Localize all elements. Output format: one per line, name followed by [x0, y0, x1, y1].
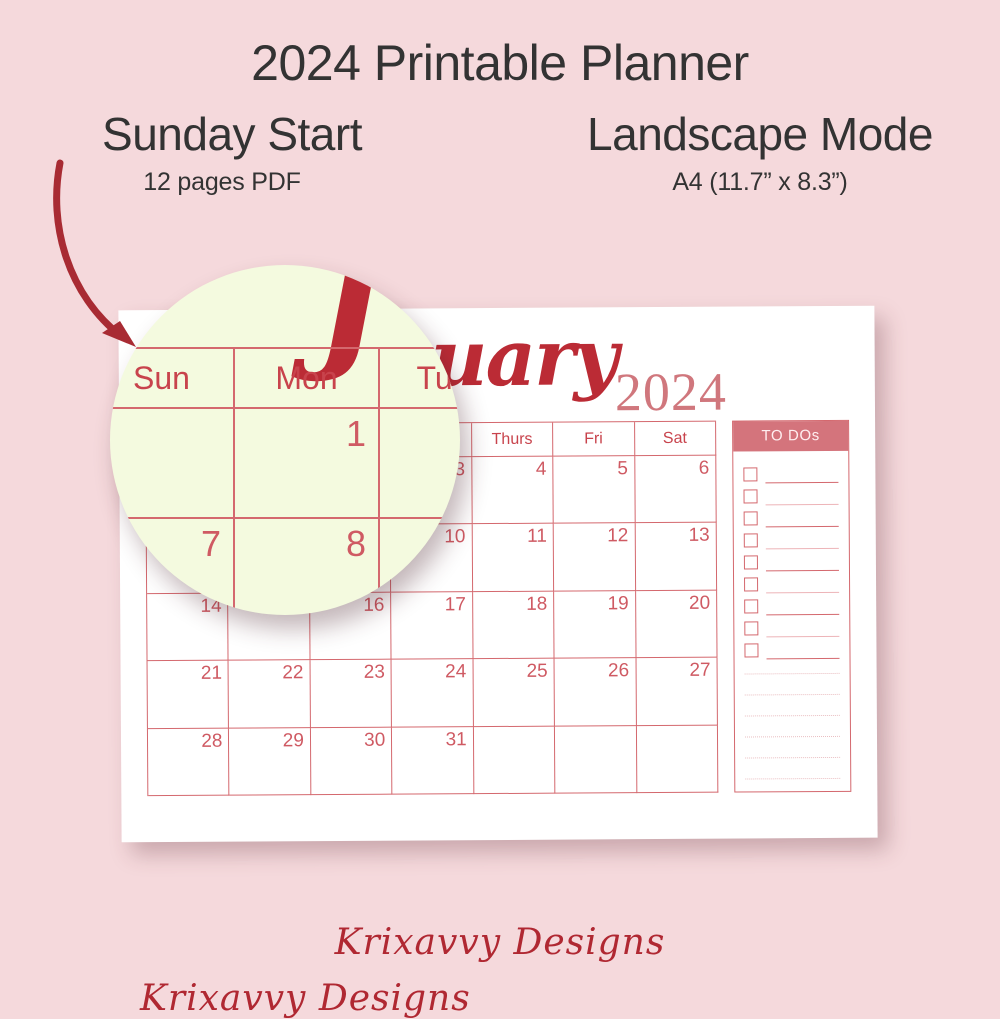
sunday-start-heading: Sunday Start	[0, 110, 482, 158]
calendar-day-number: 28	[201, 730, 222, 752]
calendar-day-cell[interactable]: 27	[636, 658, 718, 726]
todo-checkbox[interactable]	[744, 577, 758, 591]
todo-checkbox[interactable]	[744, 643, 758, 657]
calendar-week-row: 21222324252627	[148, 658, 718, 729]
calendar-weekday-header: Sat	[635, 422, 717, 456]
header-column-right: Landscape Mode A4 (11.7” x 8.3”)	[500, 110, 1000, 197]
todo-item[interactable]	[744, 593, 839, 616]
calendar-week-row: 28293031	[148, 725, 718, 796]
todo-item[interactable]	[744, 571, 839, 594]
calendar-day-cell[interactable]: 12	[554, 524, 636, 592]
todo-item[interactable]	[744, 615, 839, 638]
magnifier-day-cell	[380, 409, 460, 519]
calendar-weekday-header: Fri	[553, 422, 635, 456]
calendar-day-cell[interactable]: 5	[553, 456, 635, 524]
todo-dotted-line[interactable]	[745, 778, 840, 780]
calendar-day-cell[interactable]: 19	[554, 591, 636, 659]
calendar-day-cell[interactable]: 23	[310, 660, 392, 728]
calendar-day-number: 4	[536, 459, 547, 481]
calendar-day-cell[interactable]: 31	[392, 727, 474, 795]
calendar-day-cell[interactable]: 25	[473, 659, 555, 727]
calendar-day-number: 31	[445, 729, 466, 751]
calendar-day-number: 24	[445, 661, 466, 683]
calendar-day-number: 26	[608, 660, 629, 682]
todo-item[interactable]	[744, 527, 839, 550]
calendar-day-cell[interactable]: 21	[148, 661, 230, 729]
calendar-day-cell[interactable]: 6	[635, 456, 717, 524]
calendar-day-cell[interactable]: 24	[392, 659, 474, 727]
todo-notes-lines	[745, 673, 841, 800]
calendar-day-number: 11	[527, 526, 547, 548]
calendar-day-number: 25	[527, 661, 548, 683]
todo-dotted-line[interactable]	[745, 673, 840, 675]
pages-pdf-subtitle: 12 pages PDF	[0, 168, 472, 197]
calendar-day-number: 5	[617, 458, 628, 480]
calendar-day-number: 12	[607, 526, 628, 548]
magnifier-day-number: 7	[201, 523, 221, 565]
magnifier-content: J SunMonTues178	[110, 265, 460, 615]
calendar-day-cell[interactable]: 11	[472, 524, 554, 592]
todo-dotted-line[interactable]	[745, 715, 840, 717]
magnifier-weekday-header: Sun	[110, 349, 235, 409]
todo-item[interactable]	[744, 637, 839, 660]
todo-checkbox-list	[743, 461, 839, 660]
magnifier-weekday-header: Mon	[235, 349, 380, 409]
todo-checkbox[interactable]	[744, 599, 758, 613]
todo-dotted-line[interactable]	[745, 757, 840, 759]
calendar-day-cell[interactable]: 26	[555, 658, 637, 726]
calendar-day-number: 21	[201, 663, 222, 685]
magnifier-week-row: 1	[110, 409, 460, 519]
calendar-day-cell[interactable]: 22	[229, 660, 311, 728]
todo-checkbox[interactable]	[743, 467, 757, 481]
todo-item[interactable]	[743, 483, 838, 506]
calendar-day-number: 6	[699, 458, 710, 480]
todo-item[interactable]	[744, 549, 839, 572]
todo-item[interactable]	[743, 461, 838, 484]
watermark-secondary: Krixavvy Designs	[140, 978, 1000, 1019]
magnifier-header-row: SunMonTues	[110, 349, 460, 409]
paper-size-subtitle: A4 (11.7” x 8.3”)	[510, 168, 1000, 197]
calendar-day-number: 29	[283, 730, 304, 752]
landscape-mode-heading: Landscape Mode	[510, 110, 1000, 158]
todo-dotted-line[interactable]	[745, 736, 840, 738]
todo-checkbox[interactable]	[743, 489, 757, 503]
todo-item[interactable]	[744, 505, 839, 528]
magnifier-day-cell	[110, 409, 235, 519]
calendar-day-cell[interactable]: 13	[635, 523, 717, 591]
magnifier-circle: J SunMonTues178	[110, 265, 460, 615]
magnifier-weekday-header: Tues	[380, 349, 460, 409]
calendar-day-number: 20	[689, 593, 710, 615]
magnifier-day-cell: 1	[235, 409, 380, 519]
magnifier-day-cell	[380, 519, 460, 615]
todo-dotted-line[interactable]	[745, 694, 840, 696]
calendar-day-cell[interactable]	[474, 726, 556, 794]
todo-panel: TO DOs	[732, 420, 851, 793]
magnifier-week-row: 78	[110, 519, 460, 615]
magnifier-day-number: 1	[346, 413, 366, 455]
calendar-day-cell[interactable]: 4	[472, 457, 554, 525]
calendar-day-cell[interactable]	[636, 725, 718, 793]
magnifier-day-cell: 8	[235, 519, 380, 615]
calendar-day-cell[interactable]	[555, 726, 637, 794]
todo-checkbox[interactable]	[744, 533, 758, 547]
magnifier-day-number: 8	[346, 523, 366, 565]
todo-panel-title: TO DOs	[733, 421, 848, 452]
calendar-day-number: 22	[282, 662, 303, 684]
calendar-day-number: 30	[364, 729, 385, 751]
calendar-day-cell[interactable]: 28	[148, 728, 230, 796]
magnifier-day-cell: 7	[110, 519, 235, 615]
magnifier-calendar-grid: SunMonTues178	[110, 347, 460, 615]
calendar-day-number: 19	[608, 593, 629, 615]
todo-checkbox[interactable]	[744, 621, 758, 635]
todo-panel-body	[733, 451, 850, 808]
calendar-day-number: 23	[364, 662, 385, 684]
calendar-day-number: 27	[689, 660, 710, 682]
calendar-day-cell[interactable]: 18	[473, 591, 555, 659]
page-title: 2024 Printable Planner	[0, 34, 1000, 92]
calendar-weekday-header: Thurs	[472, 423, 554, 457]
calendar-day-cell[interactable]: 29	[229, 728, 311, 796]
calendar-day-cell[interactable]: 20	[636, 590, 718, 658]
todo-checkbox[interactable]	[744, 511, 758, 525]
todo-checkbox[interactable]	[744, 555, 758, 569]
header-columns: Sunday Start 12 pages PDF Landscape Mode…	[0, 110, 1000, 197]
header-column-left: Sunday Start 12 pages PDF	[0, 110, 500, 197]
todo-write-line[interactable]	[767, 658, 840, 659]
calendar-day-cell[interactable]: 30	[311, 727, 393, 795]
year-label: 2024	[615, 365, 727, 420]
calendar-day-number: 18	[526, 594, 547, 616]
calendar-day-number: 13	[689, 525, 710, 547]
watermark-primary: Krixavvy Designs	[0, 922, 1000, 963]
